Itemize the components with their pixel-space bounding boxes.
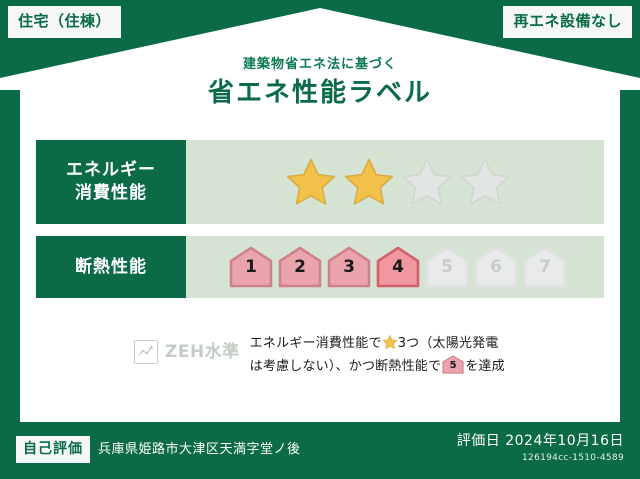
insulation-level-inline-icon: 5 bbox=[442, 355, 464, 374]
label-footer: 自己評価 兵庫県姫路市大津区天満字堂ノ後 評価日 2024年10月16日 126… bbox=[0, 422, 640, 479]
insulation-level-value: 6 bbox=[474, 259, 518, 276]
star-icon bbox=[382, 334, 398, 350]
star-icon bbox=[343, 156, 395, 208]
zeh-badge: ZEH水準 bbox=[36, 332, 240, 364]
insulation-level-value: 5 bbox=[425, 259, 469, 276]
star-icon bbox=[401, 156, 453, 208]
energy-performance-row: エネルギー 消費性能 bbox=[36, 140, 604, 224]
zeh-standard-note: ZEH水準 エネルギー消費性能で 3つ（太陽光発電 は考慮しない）、かつ断熱性能… bbox=[36, 332, 604, 378]
insulation-level-value: 1 bbox=[229, 259, 273, 276]
footer-right-group: 評価日 2024年10月16日 126194cc-1510-4589 bbox=[457, 432, 624, 465]
zeh-desc-line2-part2: を達成 bbox=[465, 359, 505, 374]
zeh-desc-line2-part1: は考慮しない）、かつ断熱性能で bbox=[250, 359, 442, 374]
energy-label-line2: 消費性能 bbox=[75, 182, 147, 205]
page-title: 省エネ性能ラベル bbox=[0, 77, 640, 110]
star-icon bbox=[285, 156, 337, 208]
insulation-level-chip: 1 bbox=[229, 246, 273, 288]
insulation-level-scale: 1234567 bbox=[229, 246, 567, 288]
evaluation-date: 評価日 2024年10月16日 bbox=[457, 432, 624, 450]
insulation-performance-label-box: 断熱性能 bbox=[36, 236, 186, 298]
zeh-description: エネルギー消費性能で 3つ（太陽光発電 は考慮しない）、かつ断熱性能で 5 を達… bbox=[250, 332, 505, 378]
insulation-level-chip: 6 bbox=[474, 246, 518, 288]
insulation-level-value: 3 bbox=[327, 259, 371, 276]
insulation-level-chip: 3 bbox=[327, 246, 371, 288]
energy-performance-label: 住宅（住棟） 再エネ設備なし 建築物省エネ法に基づく 省エネ性能ラベル エネルギ… bbox=[0, 0, 640, 479]
label-serial-number: 126194cc-1510-4589 bbox=[457, 453, 624, 465]
footer-left-group: 自己評価 兵庫県姫路市大津区天満字堂ノ後 bbox=[16, 436, 301, 463]
insulation-level-chip: 4 bbox=[376, 246, 420, 288]
zeh-badge-label: ZEH水準 bbox=[165, 344, 240, 361]
self-evaluation-badge: 自己評価 bbox=[16, 436, 90, 463]
zeh-desc-part2: 3つ（太陽光発電 bbox=[398, 336, 499, 351]
insulation-label-line1: 断熱性能 bbox=[75, 256, 147, 279]
insulation-performance-value: 1234567 bbox=[186, 236, 604, 298]
energy-performance-label-box: エネルギー 消費性能 bbox=[36, 140, 186, 224]
renewable-energy-tag: 再エネ設備なし bbox=[503, 6, 632, 38]
insulation-level-chip: 5 bbox=[425, 246, 469, 288]
building-type-tag: 住宅（住棟） bbox=[8, 6, 121, 38]
zeh-checkbox-icon bbox=[134, 340, 158, 364]
insulation-level-value: 2 bbox=[278, 259, 322, 276]
energy-performance-value bbox=[186, 140, 604, 224]
property-address: 兵庫県姫路市大津区天満字堂ノ後 bbox=[98, 443, 301, 456]
insulation-level-chip: 2 bbox=[278, 246, 322, 288]
insulation-level-value: 4 bbox=[376, 259, 420, 276]
insulation-performance-row: 断熱性能 1234567 bbox=[36, 236, 604, 298]
insulation-level-inline-value: 5 bbox=[442, 361, 464, 371]
energy-label-line1: エネルギー bbox=[66, 159, 156, 182]
star-icon bbox=[459, 156, 511, 208]
label-title-block: 建築物省エネ法に基づく 省エネ性能ラベル bbox=[0, 57, 640, 109]
star-rating bbox=[285, 156, 511, 208]
zeh-desc-part1: エネルギー消費性能で bbox=[250, 336, 382, 351]
insulation-level-value: 7 bbox=[523, 259, 567, 276]
title-subtitle: 建築物省エネ法に基づく bbox=[0, 57, 640, 73]
insulation-level-chip: 7 bbox=[523, 246, 567, 288]
